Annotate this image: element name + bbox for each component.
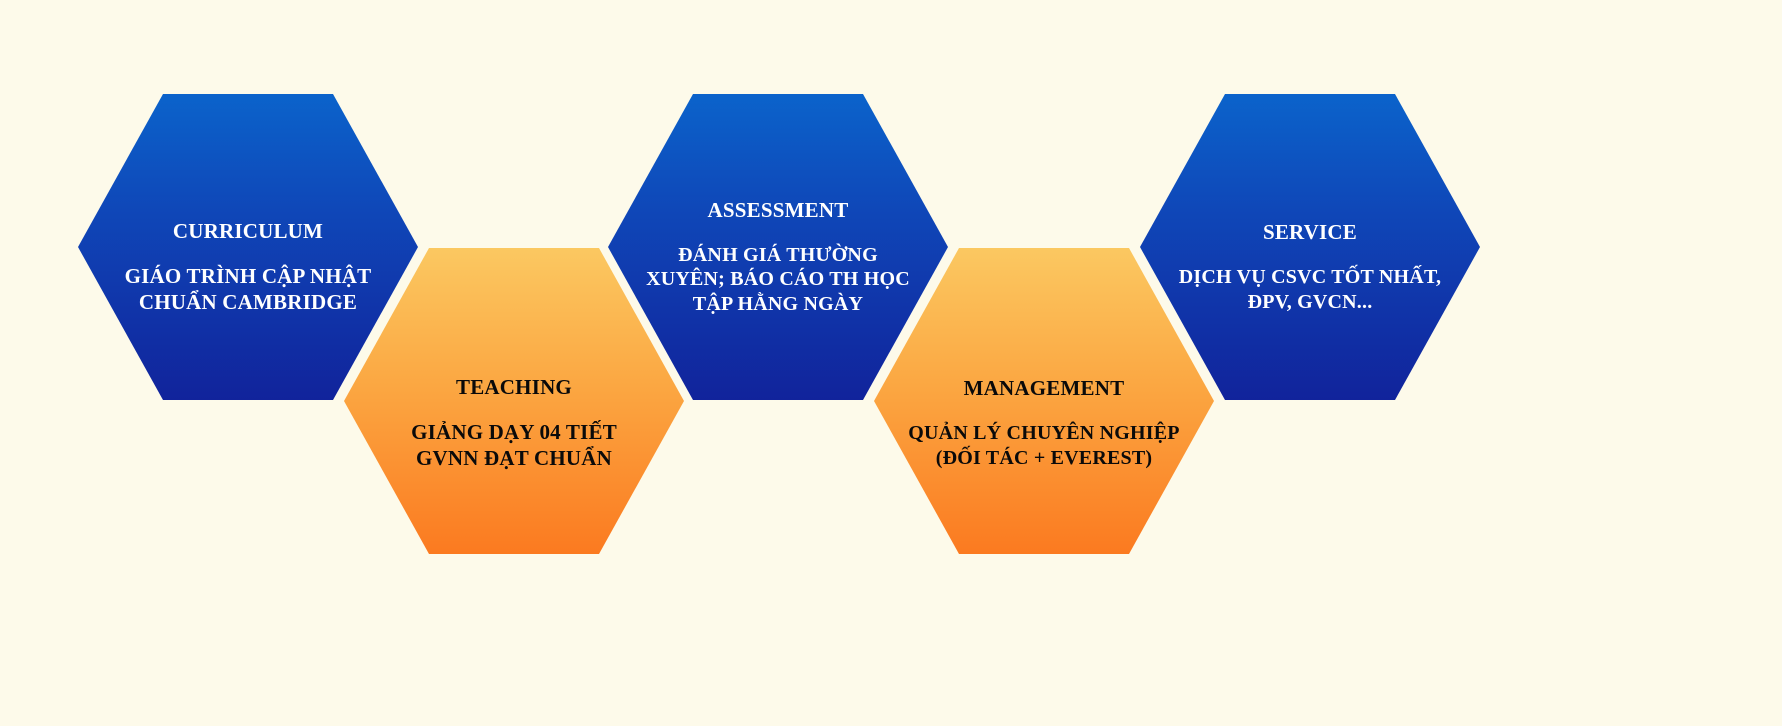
hexagon-assessment[interactable]: ASSESSMENT ĐÁNH GIÁ THƯỜNG XUYÊN; BÁO CÁ… <box>608 94 948 400</box>
hexagon-subtitle: ĐÁNH GIÁ THƯỜNG XUYÊN; BÁO CÁO TH HỌC TẬ… <box>646 243 910 316</box>
hexagon-title: TEACHING <box>411 375 617 401</box>
hexagon-service[interactable]: SERVICE DỊCH VỤ CSVC TỐT NHẤT, ĐPV, GVCN… <box>1140 94 1480 400</box>
hexagon-subtitle: QUẢN LÝ CHUYÊN NGHIỆP (ĐỐI TÁC + EVEREST… <box>908 421 1179 470</box>
hexagon-subtitle: DỊCH VỤ CSVC TỐT NHẤT, ĐPV, GVCN... <box>1179 265 1441 314</box>
hexagon-label: TEACHING GIẢNG DẠY 04 TIẾT GVNN ĐẠT CHUẨ… <box>405 355 623 490</box>
hexagon-label: CURRICULUM GIÁO TRÌNH CẬP NHẬT CHUẨN CAM… <box>119 199 378 334</box>
hexagon-management[interactable]: MANAGEMENT QUẢN LÝ CHUYÊN NGHIỆP (ĐỐI TÁ… <box>874 248 1214 554</box>
hexagon-title: ASSESSMENT <box>646 198 910 224</box>
hexagon-label: ASSESSMENT ĐÁNH GIÁ THƯỜNG XUYÊN; BÁO CÁ… <box>640 178 916 335</box>
hexagon-title: MANAGEMENT <box>908 376 1179 402</box>
hexagon-title: CURRICULUM <box>125 219 372 245</box>
hexagon-label: MANAGEMENT QUẢN LÝ CHUYÊN NGHIỆP (ĐỐI TÁ… <box>902 357 1185 490</box>
hexagon-subtitle: GIẢNG DẠY 04 TIẾT GVNN ĐẠT CHUẨN <box>411 420 617 471</box>
diagram-canvas: CURRICULUM GIÁO TRÌNH CẬP NHẬT CHUẨN CAM… <box>0 0 1782 726</box>
hexagon-title: SERVICE <box>1179 220 1441 246</box>
hexagon-teaching[interactable]: TEACHING GIẢNG DẠY 04 TIẾT GVNN ĐẠT CHUẨ… <box>344 248 684 554</box>
hexagon-curriculum[interactable]: CURRICULUM GIÁO TRÌNH CẬP NHẬT CHUẨN CAM… <box>78 94 418 400</box>
hexagon-subtitle: GIÁO TRÌNH CẬP NHẬT CHUẨN CAMBRIDGE <box>125 264 372 315</box>
hexagon-label: SERVICE DỊCH VỤ CSVC TỐT NHẤT, ĐPV, GVCN… <box>1173 201 1447 334</box>
